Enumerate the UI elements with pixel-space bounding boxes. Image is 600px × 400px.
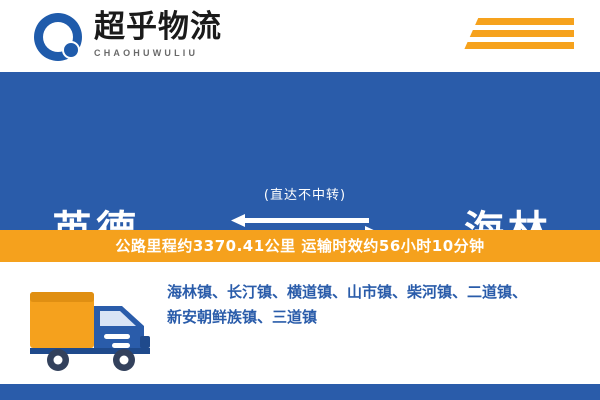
brand: 超乎物流 CHAOHUWULIU <box>94 10 222 58</box>
stations-section: 海林镇、长汀镇、横道镇、山市镇、柴河镇、二道镇、 新安朝鲜族镇、三道镇 <box>0 262 600 400</box>
logo-dot <box>62 41 80 59</box>
info-bar-text: 公路里程约3370.41公里 运输时效约56小时10分钟 <box>0 230 600 262</box>
station-list-line-1: 海林镇、长汀镇、横道镇、山市镇、柴河镇、二道镇、 <box>167 280 577 305</box>
station-list: 海林镇、长汀镇、横道镇、山市镇、柴河镇、二道镇、 新安朝鲜族镇、三道镇 <box>167 280 577 330</box>
poster-canvas: 超乎物流 CHAOHUWULIU 英德 (直达不中转) 【往返运输】 <box>0 0 600 400</box>
delivery-truck-icon <box>28 280 158 380</box>
stripe-2 <box>460 30 574 37</box>
stripe-3 <box>460 42 574 49</box>
brand-name-cn: 超乎物流 <box>94 10 222 44</box>
station-list-line-2: 新安朝鲜族镇、三道镇 <box>167 305 577 330</box>
direct-service-tag: (直达不中转) <box>231 184 379 203</box>
decorative-stripes <box>454 18 574 58</box>
brand-name-pinyin: CHAOHUWULIU <box>94 48 222 58</box>
route-banner: 英德 (直达不中转) 【往返运输】 海林 <box>0 72 600 230</box>
header: 超乎物流 CHAOHUWULIU <box>0 0 600 72</box>
info-bar: 公路里程约3370.41公里 运输时效约56小时10分钟 <box>0 230 600 262</box>
footer-strip <box>0 384 600 400</box>
stripe-diagonal-cut <box>433 14 480 62</box>
circle-q-logo-icon <box>34 13 82 61</box>
